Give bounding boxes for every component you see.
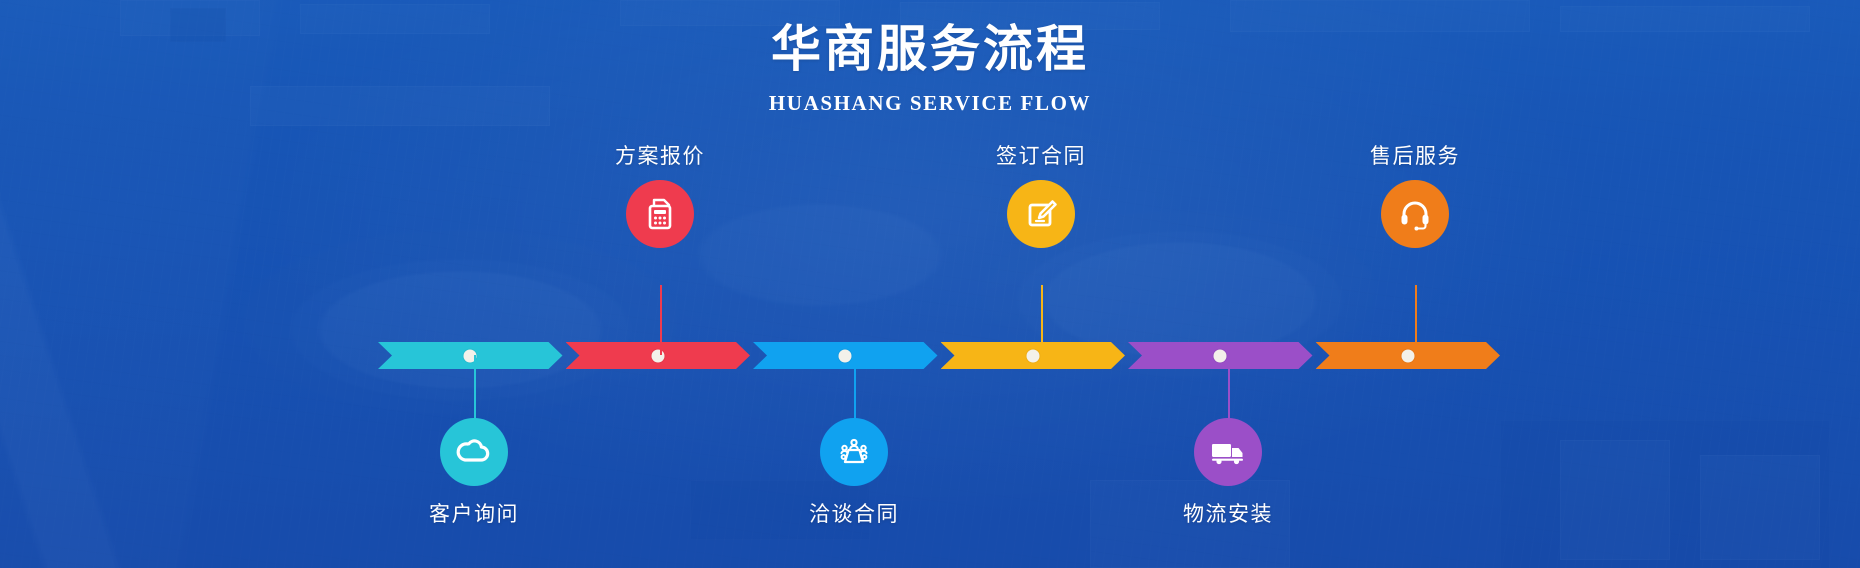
flow-step-4[interactable]: 签订合同 [961,140,1121,248]
connector-stem-6 [1415,285,1417,355]
banner-headings: 华商服务流程 HUASHANG SERVICE FLOW [0,18,1860,116]
flow-step-6[interactable]: 售后服务 [1335,140,1495,248]
service-flow-banner: 华商服务流程 HUASHANG SERVICE FLOW [0,0,1860,568]
flow-arrow-3[interactable] [753,342,938,369]
flow-marker-dot-4 [1026,349,1039,362]
calculator-quote-icon [641,195,679,233]
flow-arrow-2[interactable] [566,342,751,369]
flow-arrow-bar [378,342,1500,369]
flow-marker-dot-3 [839,349,852,362]
flow-step-3-bubble [820,418,888,486]
headset-support-icon [1395,194,1435,234]
cloud-chat-icon [454,432,494,472]
page-title: 华商服务流程 [0,18,1860,81]
flow-step-1-label: 客户询问 [394,498,554,528]
flow-marker-dot-6 [1401,349,1414,362]
delivery-truck-icon [1207,431,1249,473]
flow-arrow-4[interactable] [941,342,1126,369]
connector-stem-5 [1228,355,1230,425]
flow-step-5-bubble [1194,418,1262,486]
connector-stem-2 [660,285,662,355]
flow-marker-dot-2 [651,349,664,362]
connector-stem-4 [1041,285,1043,355]
flow-step-4-bubble [1007,180,1075,248]
flow-step-2-bubble [626,180,694,248]
flow-step-2-label: 方案报价 [580,140,740,170]
flow-arrow-1[interactable] [378,342,563,369]
flow-step-5[interactable]: 物流安装 [1148,418,1308,528]
flow-step-4-label: 签订合同 [961,140,1121,170]
flow-step-1-bubble [440,418,508,486]
flow-step-3[interactable]: 洽谈合同 [774,418,934,528]
connector-stem-1 [474,355,476,425]
meeting-table-icon [834,432,874,472]
connector-stem-3 [854,355,856,425]
flow-step-6-bubble [1381,180,1449,248]
flow-step-1[interactable]: 客户询问 [394,418,554,528]
flow-step-5-label: 物流安装 [1148,498,1308,528]
flow-arrow-5[interactable] [1128,342,1313,369]
flow-marker-dot-5 [1214,349,1227,362]
page-subtitle: HUASHANG SERVICE FLOW [0,91,1860,116]
pen-sign-icon [1022,195,1060,233]
flow-step-2[interactable]: 方案报价 [580,140,740,248]
flow-step-3-label: 洽谈合同 [774,498,934,528]
flow-arrow-6[interactable] [1316,342,1501,369]
flow-step-6-label: 售后服务 [1335,140,1495,170]
